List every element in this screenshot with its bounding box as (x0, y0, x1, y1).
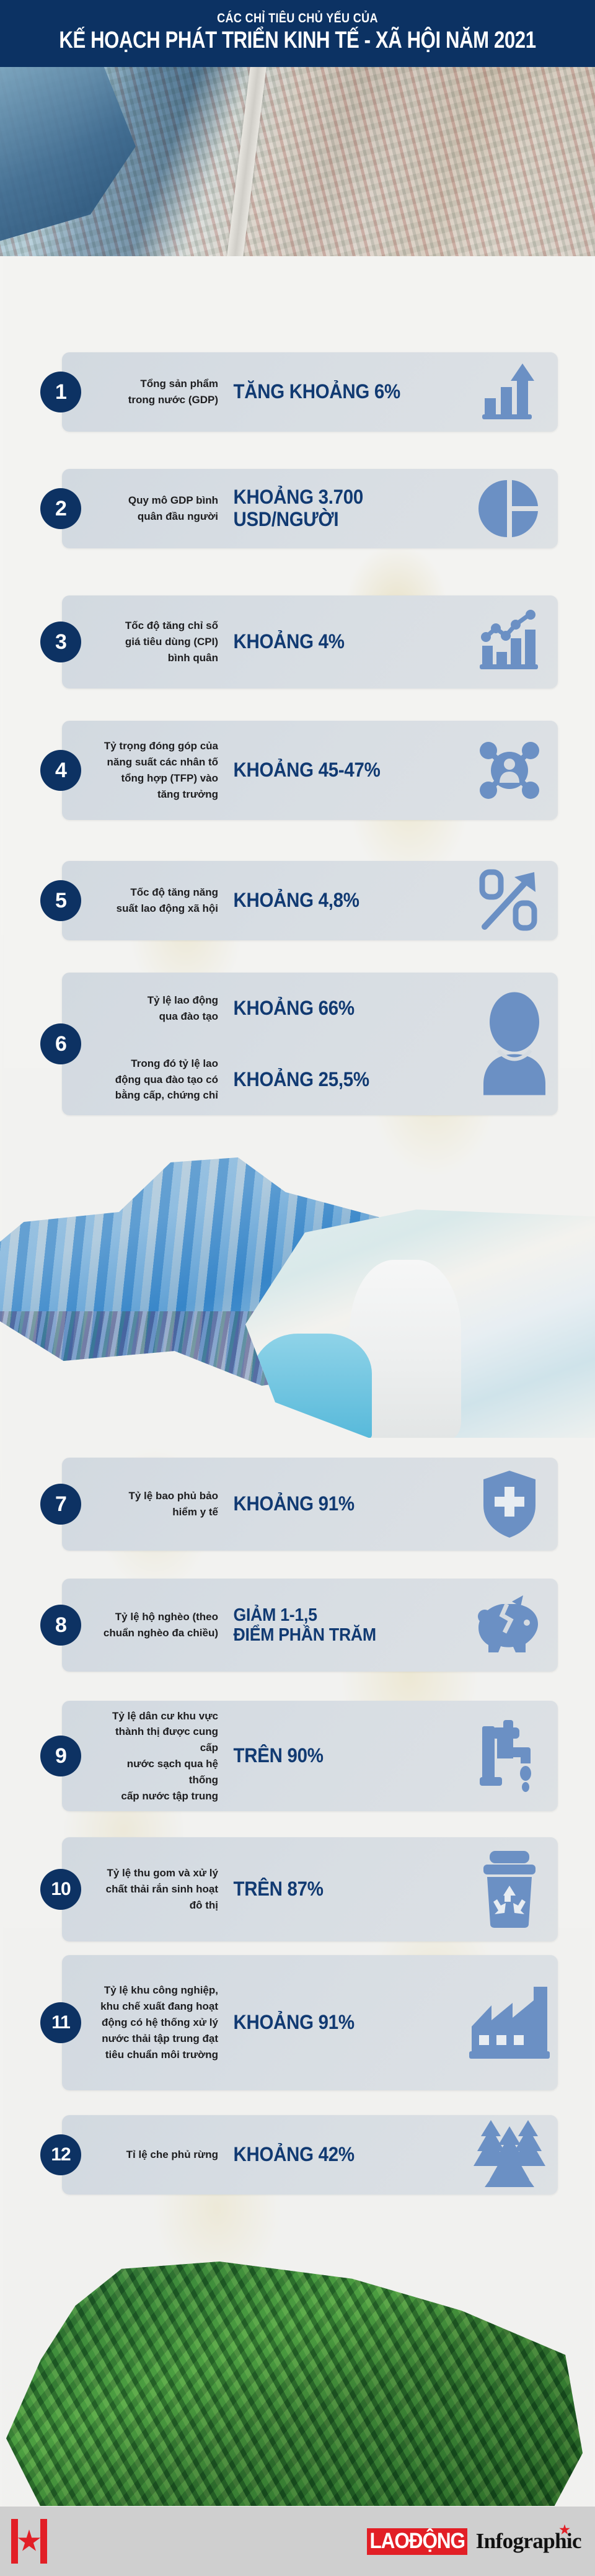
indicator-card-4[interactable]: 4 Tỷ trọng đóng góp của năng suất các nh… (62, 721, 558, 820)
indicator-number-badge: 3 (40, 622, 81, 662)
recycle-bin-icon (465, 1837, 558, 1941)
bracket-left (11, 2519, 18, 2564)
indicator-number-badge: 2 (40, 488, 81, 529)
indicator-description: Tốc độ tăng năng suất lao động xã hội (62, 885, 223, 917)
indicator-card-2[interactable]: 2 Quy mô GDP bình quân đầu người KHOẢNG … (62, 469, 558, 548)
indicator-number-badge: 7 (40, 1484, 81, 1525)
indicator-number-badge: 11 (40, 2002, 81, 2043)
indicator-card-9[interactable]: 9 Tỷ lệ dân cư khu vực thành thị được cu… (62, 1701, 558, 1811)
indicator-value: KHOẢNG 4,8% (223, 889, 446, 912)
aerial-city-photo (0, 67, 595, 256)
indicator-value: TRÊN 87% (223, 1878, 446, 1901)
indicator-description: Tỷ trọng đóng góp của năng suất các nhân… (62, 738, 223, 802)
water-tap-icon (465, 1701, 558, 1811)
person-icon (480, 990, 549, 1099)
indicator-value: KHOẢNG 42% (223, 2144, 446, 2166)
star-icon (17, 2529, 41, 2553)
brand-wordmark[interactable]: LAOĐỘNG Infographic (361, 2528, 584, 2555)
piggy-bank-icon (465, 1579, 558, 1672)
indicator-card-11[interactable]: 11 Tỷ lệ khu công nghiệp, khu chế xuất đ… (62, 1955, 558, 2090)
brand-laodong: LAOĐỘNG (367, 2528, 467, 2555)
indicator-value: KHOẢNG 66% (223, 997, 446, 1020)
indicator-description: Tốc độ tăng chỉ số giá tiêu dùng (CPI) b… (62, 618, 223, 666)
factory-icon (465, 1955, 558, 2090)
indicator-value: KHOẢNG 3.700 USD/NGƯỜI (223, 486, 446, 531)
indicator-value: KHOẢNG 4% (223, 631, 446, 653)
indicator-value: TRÊN 90% (223, 1745, 446, 1767)
indicator-description: Tỉ lệ che phủ rừng (62, 2147, 223, 2163)
header-banner: CÁC CHỈ TIÊU CHỦ YẾU CỦA KẾ HOẠCH PHÁT T… (0, 0, 595, 67)
indicator-value: KHOẢNG 91% (223, 1493, 446, 1515)
indicator-description: Tỷ lệ thu gom và xử lý chất thải rắn sin… (62, 1865, 223, 1913)
indicator-card-6[interactable]: 6 Tỷ lệ lao động qua đào tạo KHOẢNG 66% … (62, 973, 558, 1115)
percent-arrow-icon (465, 861, 558, 940)
laodong-star-logo-icon[interactable] (11, 2519, 47, 2564)
indicator-description: Tỷ lệ dân cư khu vực thành thị được cung… (62, 1708, 223, 1804)
forest-canopy (6, 2262, 583, 2506)
indicator-description: Tổng sản phẩm trong nước (GDP) (62, 376, 223, 408)
indicator-number-badge: 1 (40, 372, 81, 412)
indicator-description: Tỷ lệ bao phủ bảo hiểm y tế (62, 1488, 223, 1520)
indicator-description: Tỷ lệ khu công nghiệp, khu chế xuất đang… (62, 1982, 223, 2062)
indicator-description: Quy mô GDP bình quân đầu người (62, 492, 223, 525)
indicator-value-secondary: KHOẢNG 25,5% (223, 1069, 446, 1091)
bracket-right (40, 2519, 47, 2564)
indicator-value: KHOẢNG 45-47% (223, 759, 446, 782)
indicator-card-12[interactable]: 12 Tỉ lệ che phủ rừng KHOẢNG 42% (62, 2115, 558, 2195)
network-person-icon (465, 721, 558, 820)
indicator-card-1[interactable]: 1 Tổng sản phẩm trong nước (GDP) TĂNG KH… (62, 352, 558, 432)
indicator-number-badge: 10 (40, 1869, 81, 1910)
indicator-value: TĂNG KHOẢNG 6% (223, 381, 446, 403)
indicator-description: Tỷ lệ lao động qua đào tạo (62, 992, 223, 1025)
indicator-number-badge: 5 (40, 880, 81, 921)
forest-trees-icon (465, 2115, 558, 2195)
forest-photo (0, 2245, 595, 2506)
indicator-number-badge: 6 (40, 1023, 81, 1064)
bar-chart-arrow-icon (465, 352, 558, 432)
indicator-card-3[interactable]: 3 Tốc độ tăng chỉ số giá tiêu dùng (CPI)… (62, 595, 558, 689)
indicator-card-8[interactable]: 8 Tỷ lệ hộ nghèo (theo chuẩn nghèo đa ch… (62, 1579, 558, 1672)
indicator-number-badge: 9 (40, 1736, 81, 1776)
indicator-number-badge: 8 (40, 1605, 81, 1646)
indicator-value: KHOẢNG 91% (223, 2012, 446, 2034)
indicator-description: Tỷ lệ hộ nghèo (theo chuẩn nghèo đa chiề… (62, 1609, 223, 1641)
footer-bar: LAOĐỘNG Infographic (0, 2507, 595, 2576)
bar-line-chart-icon (465, 595, 558, 689)
railway-line (225, 67, 268, 256)
header-title: KẾ HOẠCH PHÁT TRIỂN KINH TẾ - XÃ HỘI NĂM… (53, 29, 541, 53)
infographic-page: CÁC CHỈ TIÊU CHỦ YẾU CỦA KẾ HOẠCH PHÁT T… (0, 0, 595, 2576)
pie-chart-icon (465, 469, 558, 548)
header-subtitle: CÁC CHỈ TIÊU CHỦ YẾU CỦA (42, 11, 553, 26)
indicator-card-7[interactable]: 7 Tỷ lệ bao phủ bảo hiểm y tế KHOẢNG 91% (62, 1458, 558, 1551)
health-shield-icon (465, 1458, 558, 1551)
indicator-card-10[interactable]: 10 Tỷ lệ thu gom và xử lý chất thải rắn … (62, 1837, 558, 1941)
indicator-value: GIẢM 1-1,5 ĐIỂM PHẦN TRĂM (223, 1605, 446, 1646)
indicator-description-secondary: Trong đó tỷ lệ lao động qua đào tạo có b… (62, 1056, 223, 1103)
indicator-card-5[interactable]: 5 Tốc độ tăng năng suất lao động xã hội … (62, 861, 558, 940)
indicator-number-badge: 4 (40, 750, 81, 791)
workers-healthcare-photo (0, 1140, 595, 1438)
indicator-number-badge: 12 (40, 2134, 81, 2175)
